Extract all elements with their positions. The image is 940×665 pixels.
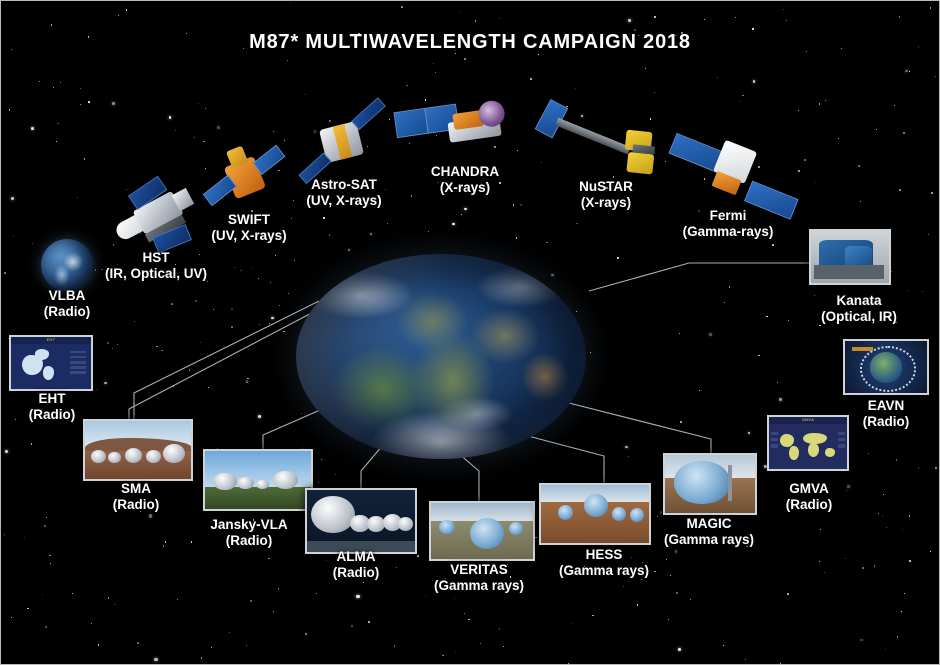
thumbnail-alma (305, 488, 417, 554)
label-swift: SWIFT(UV, X-rays) (211, 212, 286, 244)
instrument-name: NuSTAR (579, 179, 633, 195)
connector-kanata (589, 263, 809, 291)
connector-eht (134, 301, 319, 419)
instrument-band: (Radio) (333, 565, 380, 581)
instrument-band: (Radio) (210, 533, 287, 549)
label-hess: HESS(Gamma rays) (559, 547, 649, 579)
instrument-name: VLBA (44, 288, 91, 304)
instrument-name: MAGIC (664, 516, 754, 532)
nustar-satellite-icon (533, 101, 668, 190)
label-magic: MAGIC(Gamma rays) (664, 516, 754, 548)
instrument-name: EHT (29, 391, 76, 407)
instrument-name: HST (105, 250, 207, 266)
instrument-band: (Gamma rays) (434, 578, 524, 594)
instrument-band: (Radio) (113, 497, 160, 513)
thumbnail-hess (539, 483, 651, 545)
instrument-name: EAVN (863, 398, 910, 414)
instrument-band: (Gamma rays) (664, 532, 754, 548)
multiwavelength-campaign-figure: M87* MULTIWAVELENGTH CAMPAIGN 2018 (0, 0, 940, 665)
label-gmva: GMVA(Radio) (786, 481, 833, 513)
instrument-band: (Radio) (44, 304, 91, 320)
instrument-name: SMA (113, 481, 160, 497)
label-hst: HST(IR, Optical, UV) (105, 250, 207, 282)
label-astro-sat: Astro-SAT(UV, X-rays) (306, 177, 381, 209)
instrument-name: Astro-SAT (306, 177, 381, 193)
instrument-name: HESS (559, 547, 649, 563)
instrument-band: (UV, X-rays) (211, 228, 286, 244)
thumbnail-gmva: GMVA (767, 415, 849, 471)
instrument-band: (IR, Optical, UV) (105, 266, 207, 282)
label-kanata: Kanata(Optical, IR) (821, 293, 897, 325)
thumbnail-veritas (429, 501, 535, 561)
label-nustar: NuSTAR(X-rays) (579, 179, 633, 211)
earth-globe (296, 254, 586, 459)
label-fermi: Fermi(Gamma-rays) (683, 208, 774, 240)
instrument-band: (Optical, IR) (821, 309, 897, 325)
page-title: M87* MULTIWAVELENGTH CAMPAIGN 2018 (1, 31, 939, 54)
label-jansky-vla: Jansky-VLA(Radio) (210, 517, 287, 549)
connector-sma (129, 307, 323, 433)
instrument-band: (X-rays) (579, 195, 633, 211)
instrument-band: (Gamma rays) (559, 563, 649, 579)
instrument-name: CHANDRA (431, 164, 499, 180)
label-sma: SMA(Radio) (113, 481, 160, 513)
instrument-band: (X-rays) (431, 180, 499, 196)
instrument-name: ALMA (333, 549, 380, 565)
instrument-name: VERITAS (434, 562, 524, 578)
instrument-band: (Radio) (863, 414, 910, 430)
instrument-band: (Radio) (29, 407, 76, 423)
vlba-antenna-icon (41, 239, 93, 291)
label-veritas: VERITAS(Gamma rays) (434, 562, 524, 594)
instrument-name: Kanata (821, 293, 897, 309)
astro-sat-satellite-icon (290, 101, 393, 187)
instrument-name: SWIFT (211, 212, 286, 228)
thumbnail-sma (83, 419, 193, 481)
instrument-name: Fermi (683, 208, 774, 224)
label-eavn: EAVN(Radio) (863, 398, 910, 430)
label-alma: ALMA(Radio) (333, 549, 380, 581)
label-chandra: CHANDRA(X-rays) (431, 164, 499, 196)
instrument-name: GMVA (786, 481, 833, 497)
instrument-name: Jansky-VLA (210, 517, 287, 533)
thumbnail-magic (663, 453, 757, 515)
connector-magic (561, 401, 711, 453)
label-eht: EHT(Radio) (29, 391, 76, 423)
thumbnail-eht: EHT (9, 335, 93, 391)
instrument-band: (Gamma-rays) (683, 224, 774, 240)
instrument-band: (UV, X-rays) (306, 193, 381, 209)
instrument-band: (Radio) (786, 497, 833, 513)
thumbnail-eavn (843, 339, 929, 395)
label-vlba: VLBA(Radio) (44, 288, 91, 320)
thumbnail-kanata (809, 229, 891, 285)
thumbnail-jansky-vla (203, 449, 313, 511)
